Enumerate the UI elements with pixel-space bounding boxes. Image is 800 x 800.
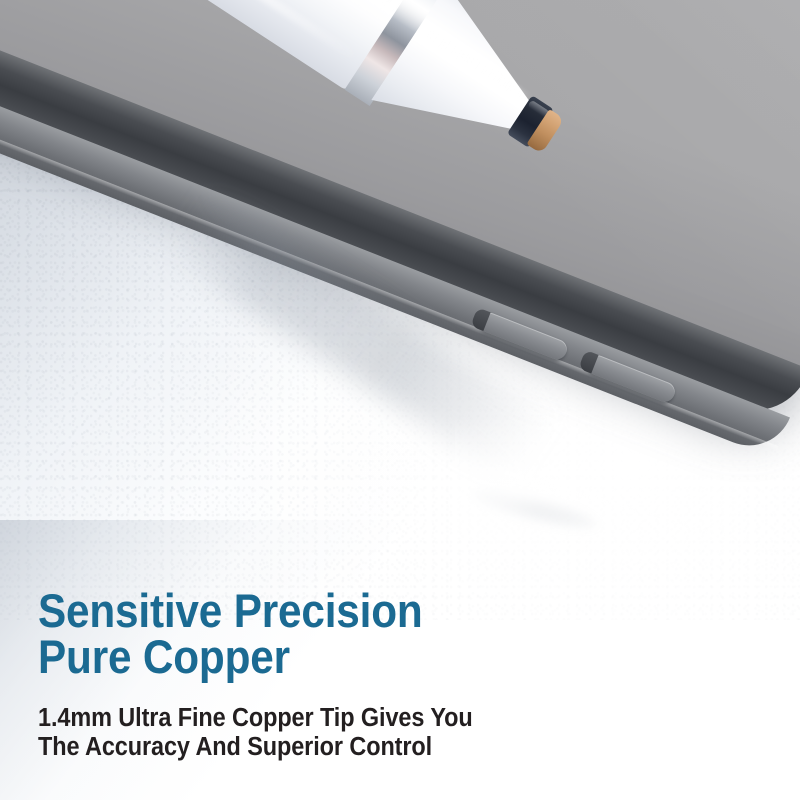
product-marketing-image: Sensitive Precision Pure Copper 1.4mm Ul…: [0, 0, 800, 800]
headline-line-1: Sensitive Precision: [38, 588, 686, 634]
subheadline-line-2: The Accuracy And Superior Control: [38, 733, 700, 762]
subheadline-line-1: 1.4mm Ultra Fine Copper Tip Gives You: [38, 704, 700, 733]
tip-light-glow: [455, 420, 685, 570]
subheadline: 1.4mm Ultra Fine Copper Tip Gives You Th…: [38, 704, 758, 762]
headline-line-2: Pure Copper: [38, 634, 686, 680]
marketing-copy: Sensitive Precision Pure Copper 1.4mm Ul…: [38, 588, 758, 762]
